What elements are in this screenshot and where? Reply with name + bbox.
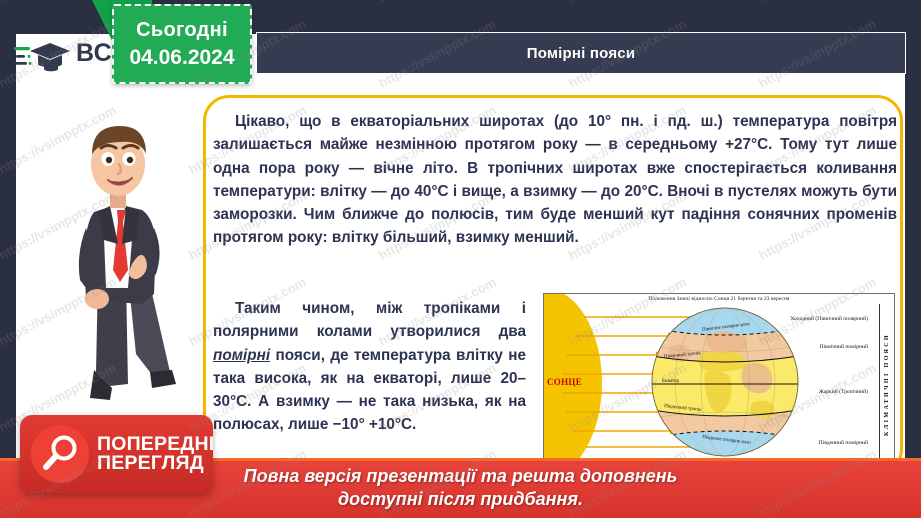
- graduation-cap-icon: [14, 39, 70, 79]
- paragraph-one-text: Цікаво, що в екваторіальних широтах (до …: [213, 113, 897, 246]
- date-badge: Сьогодні 04.06.2024: [112, 4, 252, 84]
- earth-sun-diagram: Положення Землі відносно Сонця 21 березн…: [543, 293, 895, 469]
- paragraph-two-pre: Таким чином, між тропіками і полярними к…: [213, 300, 526, 340]
- slide-stage: ВСІМ pptx Сьогодні 04.06.2024 Помірні по…: [0, 0, 921, 518]
- watermark-text: https://vsimpptx.com: [566, 0, 688, 5]
- preview-badge-line-2: ПЕРЕГЛЯД: [97, 454, 229, 474]
- zone-label-north-temperate: Північний помірний: [819, 344, 868, 350]
- preview-badge: ПОПЕРЕДНІЙ ПЕРЕГЛЯД: [20, 415, 213, 493]
- watermark-text: https://vsimpptx.com: [376, 0, 498, 5]
- page-title: Помірні пояси: [527, 45, 636, 62]
- date-badge-label: Сьогодні: [136, 19, 228, 42]
- banner-line-2: доступні після придбання.: [338, 488, 583, 511]
- character-illustration: [36, 104, 196, 410]
- zones-vertical-title: КЛІМАТИЧНІ ПОЯСИ: [880, 308, 894, 460]
- paragraph-two-emphasis: помірні: [213, 347, 270, 364]
- zone-label-north-polar: Холодний (Північний полярний): [790, 316, 868, 322]
- watermark-text: https://vsimpptx.com: [756, 0, 878, 5]
- zones-vertical-title-text: КЛІМАТИЧНІ ПОЯСИ: [884, 333, 890, 436]
- zone-label-tropical: Жаркий (Тропічний): [819, 389, 868, 395]
- date-badge-value: 04.06.2024: [129, 46, 234, 70]
- paragraph-two: Таким чином, між тропіками і полярними к…: [213, 297, 526, 437]
- banner-line-1: Повна версія презентації та решта доповн…: [244, 465, 678, 488]
- magnifier-icon: [31, 425, 89, 483]
- globe-label-equator: Екватор: [662, 379, 679, 384]
- sun-label: СОНЦЕ: [547, 377, 582, 387]
- paragraph-one: Цікаво, що в екваторіальних широтах (до …: [213, 110, 897, 250]
- zone-label-south-temperate: Південний помірний: [819, 440, 868, 446]
- slide-header-bar: Помірні пояси: [256, 32, 906, 74]
